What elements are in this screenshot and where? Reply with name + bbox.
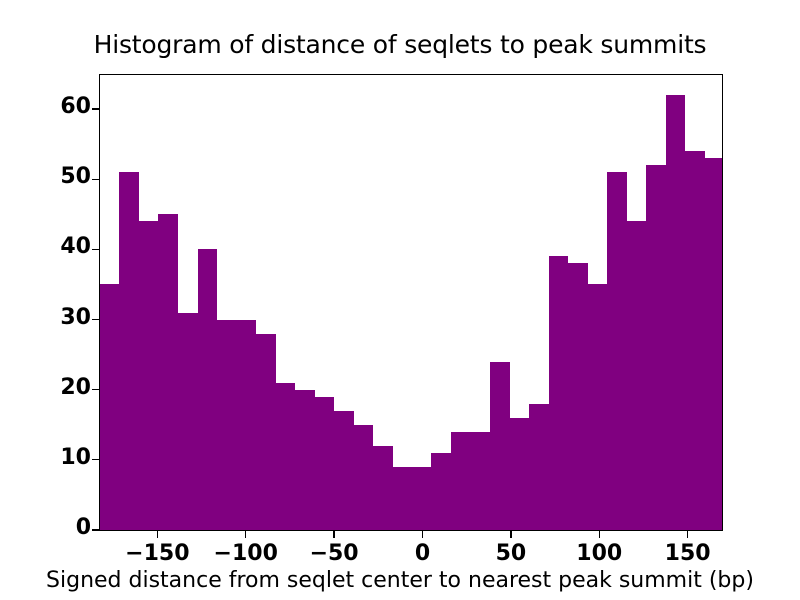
histogram-bar xyxy=(334,411,354,530)
histogram-bar xyxy=(607,172,627,530)
x-axis-tick-label: −50 xyxy=(289,541,379,566)
y-axis-tick-label: 50 xyxy=(21,164,91,189)
histogram-bar xyxy=(529,404,549,530)
y-axis-tick-mark xyxy=(92,389,99,390)
histogram-bar xyxy=(314,397,334,530)
histogram-bar xyxy=(626,221,646,530)
histogram-bar xyxy=(666,95,686,530)
histogram-bar xyxy=(158,214,178,530)
histogram-bar xyxy=(237,320,257,530)
x-axis-tick-mark xyxy=(687,531,688,538)
histogram-bar xyxy=(451,432,471,530)
y-axis-tick-mark xyxy=(92,529,99,530)
x-axis-tick-label: 150 xyxy=(643,541,733,566)
histogram-bar xyxy=(119,172,139,530)
histogram-bar xyxy=(139,221,159,530)
x-axis-tick-label: −150 xyxy=(112,541,202,566)
x-axis-tick-mark xyxy=(333,531,334,538)
x-axis-label: Signed distance from seqlet center to ne… xyxy=(0,568,800,593)
histogram-bar xyxy=(510,418,530,530)
histogram-bar xyxy=(178,313,198,530)
y-axis-tick-mark xyxy=(92,249,99,250)
y-axis-tick-label: 60 xyxy=(21,94,91,119)
y-axis-tick-label: 0 xyxy=(21,515,91,540)
histogram-bar xyxy=(217,320,237,530)
histogram-bar xyxy=(705,158,724,530)
histogram-bar xyxy=(412,467,432,530)
histogram-bar xyxy=(568,263,588,530)
x-axis-tick-label: 100 xyxy=(554,541,644,566)
histogram-bar xyxy=(646,165,666,530)
y-axis-tick-mark xyxy=(92,108,99,109)
x-axis-tick-mark xyxy=(510,531,511,538)
y-axis-tick-mark xyxy=(92,319,99,320)
x-axis-tick-label: 50 xyxy=(466,541,556,566)
histogram-bar xyxy=(549,256,569,530)
y-axis-tick-label: 30 xyxy=(21,305,91,330)
histogram-bar xyxy=(490,362,510,530)
histogram-bar xyxy=(354,425,374,530)
y-axis-tick-label: 20 xyxy=(21,375,91,400)
histogram-bar xyxy=(295,390,315,530)
histogram-bar xyxy=(470,432,490,530)
histogram-bar xyxy=(275,383,295,530)
histogram-bar xyxy=(431,453,451,530)
x-axis-tick-mark xyxy=(245,531,246,538)
histogram-bar xyxy=(198,249,218,530)
x-axis-tick-label: −100 xyxy=(201,541,291,566)
histogram-bar xyxy=(373,446,393,530)
y-axis-tick-label: 10 xyxy=(21,445,91,470)
plot-area xyxy=(99,74,723,531)
y-axis-tick-mark xyxy=(92,179,99,180)
x-axis-tick-mark xyxy=(599,531,600,538)
y-axis-tick-label: 40 xyxy=(21,234,91,259)
x-axis-tick-label: 0 xyxy=(377,541,467,566)
page-title: Histogram of distance of seqlets to peak… xyxy=(0,30,800,59)
histogram-bar xyxy=(100,284,120,530)
y-axis-tick-mark xyxy=(92,459,99,460)
x-axis-tick-mark xyxy=(422,531,423,538)
x-axis-tick-mark xyxy=(157,531,158,538)
histogram-bar xyxy=(393,467,413,530)
histogram-bar xyxy=(587,284,607,530)
histogram-figure: Histogram of distance of seqlets to peak… xyxy=(0,0,800,600)
bars-layer xyxy=(100,75,722,530)
histogram-bar xyxy=(256,334,276,530)
histogram-bar xyxy=(685,151,705,530)
